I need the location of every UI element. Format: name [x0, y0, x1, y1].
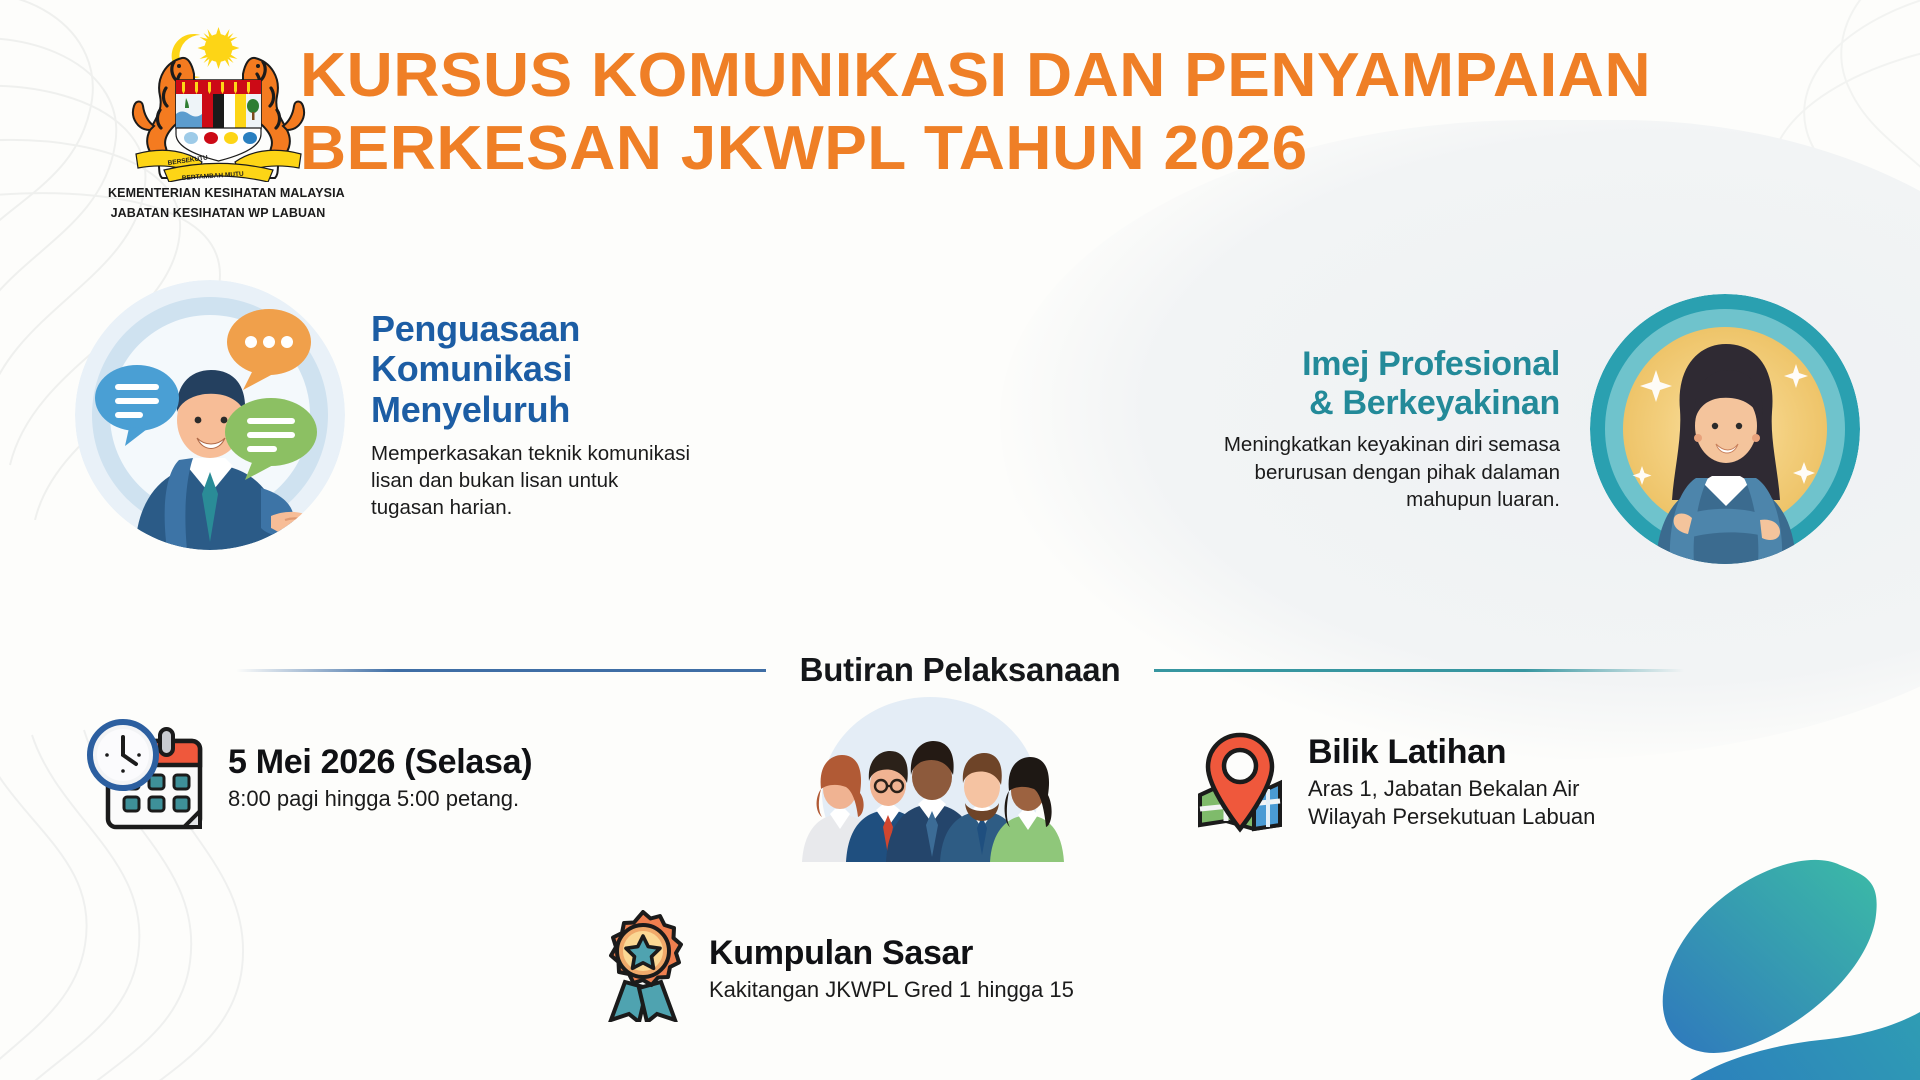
feature-body-line3: mahupun luaran.: [1140, 486, 1560, 513]
detail-venue-heading: Bilik Latihan: [1308, 733, 1595, 771]
detail-date: 5 Mei 2026 (Selasa) 8:00 pagi hingga 5:0…: [80, 715, 532, 840]
detail-target-heading: Kumpulan Sasar: [709, 934, 1074, 972]
section-title: Butiran Pelaksanaan: [800, 651, 1121, 689]
malaysia-coat-of-arms-icon: BERSEKUTU BERTAMBAH MUTU: [116, 22, 321, 182]
shield: [176, 80, 261, 161]
page-title: KURSUS KOMUNIKASI DAN PENYAMPAIAN BERKES…: [300, 44, 1560, 180]
feature-heading-line2: & Berkeyakinan: [1140, 384, 1560, 423]
businessman-speech-bubbles-illustration-icon: [75, 280, 345, 550]
divider-line-left: [236, 669, 766, 672]
feature-text-communication: Penguasaan Komunikasi Menyeluruh Memperk…: [371, 309, 771, 522]
confident-businesswoman-illustration-icon: [1590, 294, 1860, 564]
detail-date-text: 5 Mei 2026 (Selasa) 8:00 pagi hingga 5:0…: [228, 743, 532, 813]
detail-venue-body-line1: Aras 1, Jabatan Bekalan Air: [1308, 775, 1595, 803]
section-divider: Butiran Pelaksanaan: [0, 645, 1920, 695]
detail-target-group: Kumpulan Sasar Kakitangan JKWPL Gred 1 h…: [595, 910, 1074, 1027]
detail-venue-body-line2: Wilayah Persekutuan Labuan: [1308, 803, 1595, 831]
title-line-2: BERKESAN JKWPL TAHUN 2026: [300, 117, 1598, 180]
header: BERSEKUTU BERTAMBAH MUTU KEMENTERIAN KES…: [0, 0, 1920, 240]
detail-date-body: 8:00 pagi hingga 5:00 petang.: [228, 785, 532, 813]
feature-body-line1: Memperkasakan teknik komunikasi: [371, 440, 771, 467]
ministry-logo-block: BERSEKUTU BERTAMBAH MUTU KEMENTERIAN KES…: [108, 22, 328, 222]
detail-venue-text: Bilik Latihan Aras 1, Jabatan Bekalan Ai…: [1308, 733, 1595, 830]
detail-target-text: Kumpulan Sasar Kakitangan JKWPL Gred 1 h…: [709, 934, 1074, 1004]
feature-card-image: Imej Profesional & Berkeyakinan Meningka…: [1140, 294, 1860, 564]
feature-body-line1: Meningkatkan keyakinan diri semasa: [1140, 431, 1560, 458]
detail-target-body: Kakitangan JKWPL Gred 1 hingga 15: [709, 976, 1074, 1004]
feature-card-communication: Penguasaan Komunikasi Menyeluruh Memperk…: [75, 280, 771, 550]
feature-cards: Penguasaan Komunikasi Menyeluruh Memperk…: [0, 280, 1920, 580]
title-line-1: KURSUS KOMUNIKASI DAN PENYAMPAIAN: [300, 44, 1598, 107]
feature-body-line2: berurusan dengan pihak dalaman: [1140, 459, 1560, 486]
calendar-clock-icon: [80, 715, 210, 840]
feature-body-line2: lisan dan bukan lisan untuk: [371, 467, 771, 494]
ministry-name-line1: KEMENTERIAN KESIHATAN MALAYSIA: [108, 185, 328, 202]
feature-heading-line3: Menyeluruh: [371, 390, 771, 431]
group-of-people-illustration-icon: [790, 697, 1070, 862]
detail-date-heading: 5 Mei 2026 (Selasa): [228, 743, 532, 781]
detail-venue: Bilik Latihan Aras 1, Jabatan Bekalan Ai…: [1190, 725, 1595, 838]
feature-body-line3: tugasan harian.: [371, 494, 771, 521]
feature-heading-line1: Penguasaan: [371, 309, 771, 350]
ministry-name-line2: JABATAN KESIHATAN WP LABUAN: [108, 205, 328, 222]
award-ribbon-icon: [595, 910, 691, 1027]
feature-text-image: Imej Profesional & Berkeyakinan Meningka…: [1140, 345, 1560, 513]
feature-heading-line1: Imej Profesional: [1140, 345, 1560, 384]
map-pin-icon: [1190, 725, 1290, 838]
divider-line-right: [1154, 669, 1684, 672]
feature-heading-line2: Komunikasi: [371, 349, 771, 390]
